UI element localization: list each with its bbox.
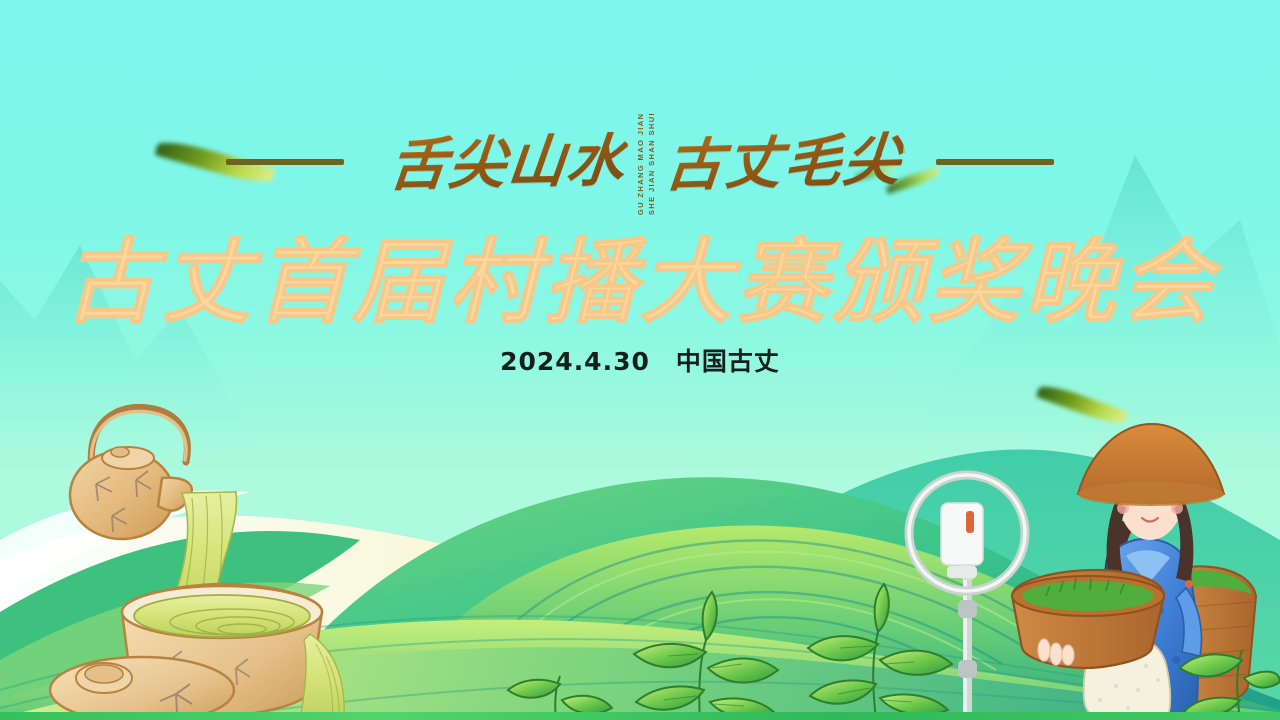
bottom-accent-strip <box>0 712 1280 720</box>
tea-bowl-lid-icon <box>50 657 234 720</box>
ring-light-phone-stand-icon <box>909 475 1025 720</box>
poster-canvas: 舌尖山水 SHE JIAN SHAN SHUI GU ZHANG MAO JIA… <box>0 0 1280 720</box>
